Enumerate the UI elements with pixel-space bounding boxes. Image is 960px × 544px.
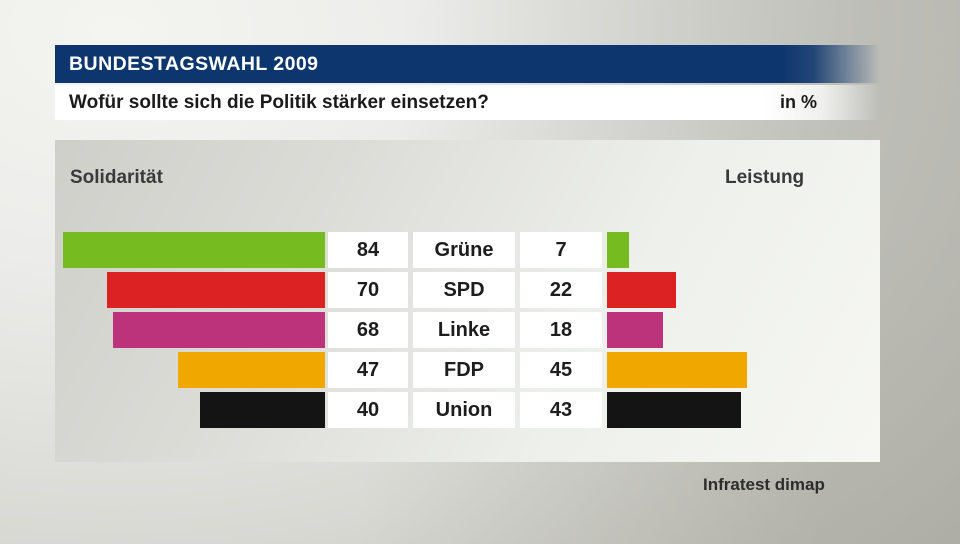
bar-right-spd (607, 272, 676, 308)
value-left: 70 (328, 272, 408, 308)
table-row: 84Grüne7 (0, 232, 960, 268)
table-row: 68Linke18 (0, 312, 960, 348)
bar-right-union (607, 392, 741, 428)
value-right: 45 (520, 352, 602, 388)
party-label: Linke (413, 312, 515, 348)
bar-left-linke (113, 312, 325, 348)
infographic-canvas: BUNDESTAGSWAHL 2009 Wofür sollte sich di… (0, 0, 960, 544)
bar-rows: 84Grüne770SPD2268Linke1847FDP4540Union43 (0, 0, 960, 544)
bar-right-grüne (607, 232, 629, 268)
party-label: FDP (413, 352, 515, 388)
party-label: Grüne (413, 232, 515, 268)
bar-left-fdp (178, 352, 325, 388)
party-label: Union (413, 392, 515, 428)
value-left: 40 (328, 392, 408, 428)
bar-right-fdp (607, 352, 747, 388)
value-left: 47 (328, 352, 408, 388)
table-row: 40Union43 (0, 392, 960, 428)
value-right: 18 (520, 312, 602, 348)
party-label: SPD (413, 272, 515, 308)
value-left: 68 (328, 312, 408, 348)
table-row: 70SPD22 (0, 272, 960, 308)
value-right: 7 (520, 232, 602, 268)
bar-left-grüne (63, 232, 325, 268)
value-left: 84 (328, 232, 408, 268)
table-row: 47FDP45 (0, 352, 960, 388)
value-right: 22 (520, 272, 602, 308)
bar-right-linke (607, 312, 663, 348)
bar-left-union (200, 392, 325, 428)
value-right: 43 (520, 392, 602, 428)
bar-left-spd (107, 272, 325, 308)
source-attribution: Infratest dimap (703, 475, 825, 495)
